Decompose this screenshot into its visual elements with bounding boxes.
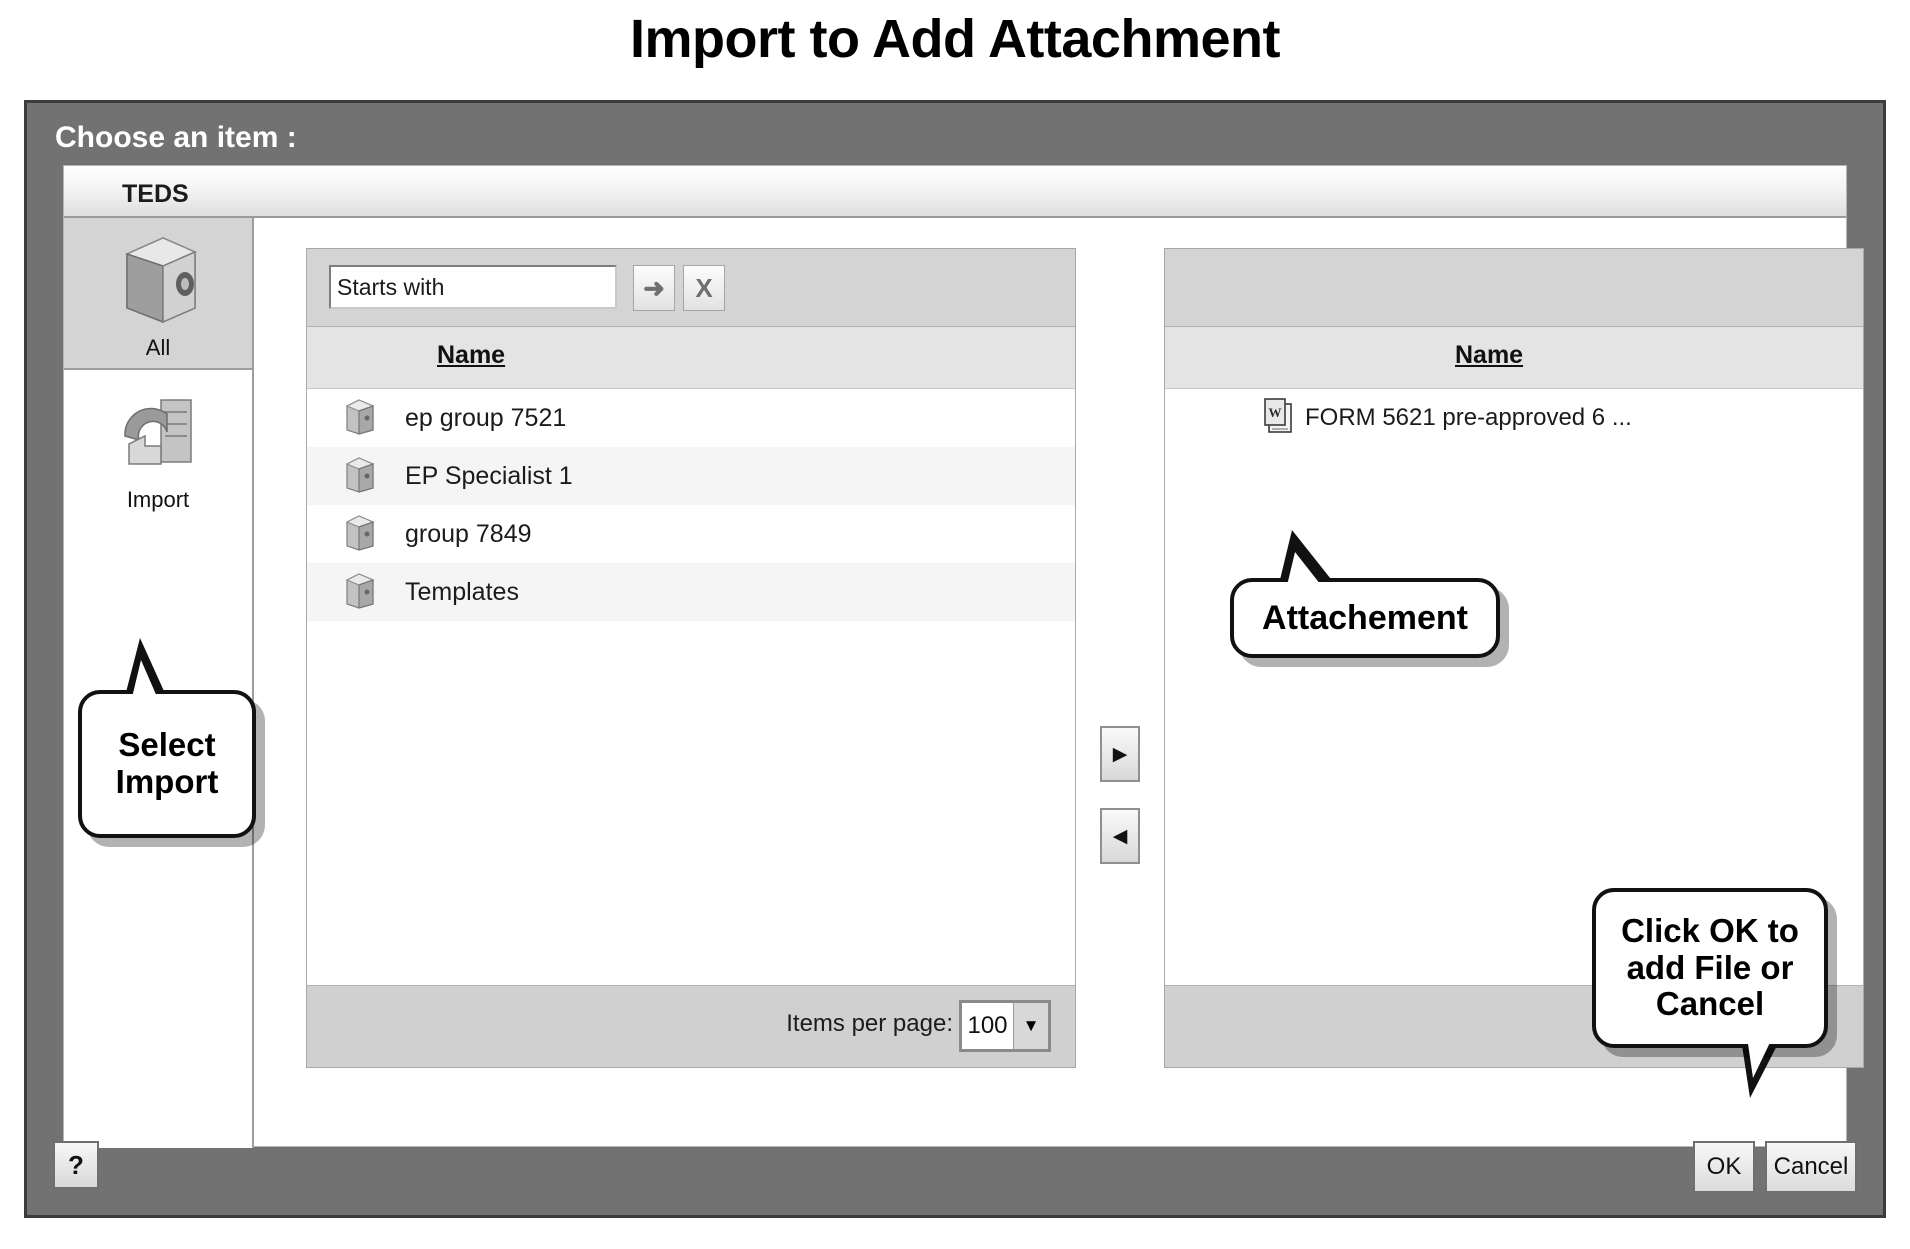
selected-column-header-name[interactable]: Name: [1455, 341, 1523, 370]
rail-item-import[interactable]: Import: [64, 370, 252, 522]
search-toolbar: ➜ X: [307, 249, 1075, 327]
tab-bar: TEDS: [64, 166, 1846, 218]
select-import-callout-line1: Select: [118, 727, 215, 764]
search-input[interactable]: [329, 265, 617, 309]
list-item-label: ep group 7521: [405, 404, 566, 433]
list-item-label: FORM 5621 pre-approved 6 ...: [1305, 404, 1632, 432]
rail-item-all[interactable]: All: [64, 218, 252, 370]
list-item-label: group 7849: [405, 520, 532, 549]
svg-text:W: W: [1269, 405, 1282, 420]
source-column-header[interactable]: Name: [307, 327, 1075, 389]
list-item[interactable]: ep group 7521: [307, 389, 1075, 447]
list-item-label: EP Specialist 1: [405, 462, 573, 491]
select-import-callout: Select Import: [78, 690, 256, 838]
ok-cancel-callout-tail-fill: [1746, 1030, 1776, 1078]
ok-cancel-callout-line2: add File or: [1627, 950, 1794, 987]
dialog-inner-frame: TEDS All: [63, 165, 1847, 1147]
ok-button[interactable]: OK: [1693, 1141, 1755, 1193]
tab-teds[interactable]: TEDS: [112, 176, 199, 213]
source-list-panel: ➜ X Name: [306, 248, 1076, 1068]
list-item[interactable]: EP Specialist 1: [307, 447, 1075, 505]
selected-panel-toolbar: [1165, 249, 1863, 327]
items-per-page-select[interactable]: 100 ▼: [959, 1000, 1051, 1052]
word-document-icon: W: [1261, 396, 1295, 441]
list-item[interactable]: group 7849: [307, 505, 1075, 563]
ok-cancel-callout: Click OK to add File or Cancel: [1592, 888, 1828, 1048]
selected-column-header[interactable]: Name: [1165, 327, 1863, 389]
cancel-button[interactable]: Cancel: [1765, 1141, 1857, 1193]
safe-icon: [64, 232, 252, 329]
source-column-header-name[interactable]: Name: [437, 341, 505, 370]
list-item[interactable]: Templates: [307, 563, 1075, 621]
help-button[interactable]: ?: [53, 1141, 99, 1189]
search-clear-icon[interactable]: X: [683, 265, 725, 311]
screenshot-root: Import to Add Attachment Choose an item …: [0, 0, 1910, 1249]
group-icon: [343, 396, 377, 441]
group-icon: [343, 570, 377, 615]
attachment-callout-line1: Attachement: [1262, 599, 1468, 637]
search-go-icon[interactable]: ➜: [633, 265, 675, 311]
group-icon: [343, 454, 377, 499]
choose-item-dialog: Choose an item : TEDS: [24, 100, 1886, 1218]
move-left-button[interactable]: ◀: [1100, 808, 1140, 864]
items-per-page-value: 100: [962, 1003, 1013, 1049]
selected-list: W FORM 5621 pre-approved 6 ...: [1165, 389, 1863, 447]
attachment-callout: Attachement: [1230, 578, 1500, 658]
page-title: Import to Add Attachment: [0, 8, 1910, 70]
items-per-page-label: Items per page:: [786, 1010, 953, 1038]
rail-item-all-label: All: [64, 335, 252, 361]
select-import-callout-tail-fill: [130, 660, 161, 706]
ok-cancel-callout-line1: Click OK to: [1621, 913, 1799, 950]
list-item[interactable]: W FORM 5621 pre-approved 6 ...: [1165, 389, 1863, 447]
select-import-callout-line2: Import: [116, 764, 219, 801]
rail-item-import-label: Import: [64, 487, 252, 513]
source-list: ep group 7521 EP Sp: [307, 389, 1075, 621]
chevron-down-icon[interactable]: ▼: [1013, 1003, 1048, 1049]
move-right-button[interactable]: ▶: [1100, 726, 1140, 782]
group-icon: [343, 512, 377, 557]
attachment-callout-tail-fill: [1285, 552, 1328, 594]
source-panel-footer: Items per page: 100 ▼: [307, 985, 1075, 1067]
import-server-icon: [64, 384, 252, 481]
dialog-instruction-label: Choose an item :: [55, 121, 297, 155]
ok-cancel-callout-line3: Cancel: [1656, 986, 1764, 1023]
list-item-label: Templates: [405, 578, 519, 607]
